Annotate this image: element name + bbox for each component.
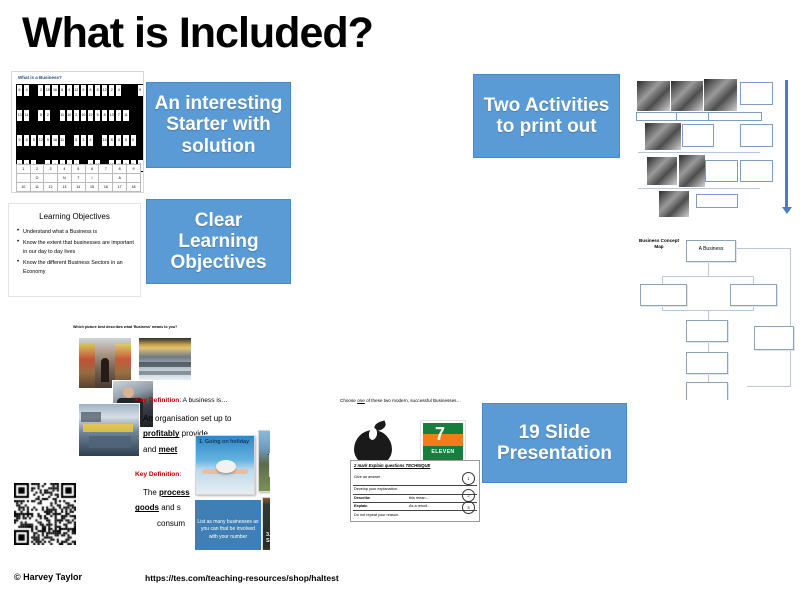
technique-heading: 2 mark Explain questions TECHNIQUE [354, 463, 430, 468]
key-definition-2-body-1b: process [159, 488, 190, 497]
concept-empty-box[interactable] [686, 352, 728, 374]
crossword-row [16, 97, 141, 110]
card-holiday[interactable]: 1. Going on holiday [195, 435, 255, 495]
crossword-cell [66, 122, 73, 135]
crossword-key-letter: I [85, 174, 99, 183]
crossword-key-number: 17 [113, 183, 127, 192]
crossword-cell: 11 [59, 134, 66, 147]
crossword-cell [66, 147, 73, 160]
crossword-key-letter [127, 174, 141, 183]
crossword-cell [94, 134, 101, 147]
crossword-cell: 12 [101, 84, 108, 97]
crossword-cell: 8 [59, 84, 66, 97]
crossword-key-number: 10 [17, 183, 31, 192]
crossword-cell [101, 147, 108, 160]
crossword-key-number: 5 [71, 165, 85, 174]
technique-row-2: Develop your explanation. [354, 487, 398, 491]
crossword-key-letter: P [30, 192, 43, 194]
crossword-key-letter [57, 192, 71, 194]
crossword-cell [66, 134, 73, 147]
technique-row-3-left: Describe [354, 496, 370, 500]
crossword-cell [137, 122, 144, 135]
crossword-cell [87, 97, 94, 110]
crossword-cell: 14 [101, 134, 108, 147]
crossword-cell [37, 97, 44, 110]
crossword-cell: 13 [108, 109, 115, 122]
crossword-cell: 13 [16, 109, 23, 122]
footer-url: https://tes.com/teaching-resources/shop/… [145, 573, 339, 583]
crossword-cell [108, 122, 115, 135]
crossword-cell [115, 122, 122, 135]
crossword-key-number: 4 [57, 165, 71, 174]
crossword-cell [16, 122, 23, 135]
crossword-cell: 12 [73, 84, 80, 97]
key-definition-1-lead: : A business is… [179, 397, 227, 404]
crossword-key-number: 3 [44, 165, 58, 174]
concept-empty-box[interactable] [640, 284, 687, 306]
crossword-cell: 2 [73, 109, 80, 122]
crossword-cell [122, 97, 129, 110]
timeline-photo [646, 156, 678, 186]
crossword-key-letter [85, 192, 99, 194]
crossword-key-letter: T [71, 174, 85, 183]
crossword-key-letter: O [30, 174, 43, 183]
timeline-photo [636, 80, 671, 112]
timeline-divider [638, 188, 760, 189]
crossword-cell [44, 97, 51, 110]
crossword-key-number: 6 [85, 165, 99, 174]
crossword-key-number: 18 [127, 183, 141, 192]
crossword-cell [101, 97, 108, 110]
timeline-answer-box[interactable] [740, 124, 773, 147]
crossword-key-table: 123456789ONTIA101112131415161718PS [16, 164, 141, 193]
crossword-cell: 5 [73, 134, 80, 147]
crossword-cell: 2 [37, 84, 44, 97]
crossword-key-number: 16 [99, 183, 113, 192]
concept-root-label: A Business [687, 246, 735, 252]
crossword-cell: 4 [23, 84, 30, 97]
timeline-answer-box[interactable] [740, 160, 773, 182]
timeline-divider [638, 152, 760, 153]
timeline-answer-box[interactable] [696, 194, 738, 208]
pictures-question: Which picture best describes what 'Busin… [73, 325, 177, 329]
crossword-cell [59, 97, 66, 110]
crossword-cell: 4 [115, 134, 122, 147]
crossword-cell [23, 122, 30, 135]
crossword-cell: 9 [130, 134, 137, 147]
slide-canvas: What is Included? What is a Business? 64… [0, 0, 800, 600]
crossword-cell [16, 97, 23, 110]
crossword-key-letter [99, 174, 113, 183]
timeline-activity-thumbnail[interactable] [630, 76, 798, 218]
crossword-key-number: 15 [85, 183, 99, 192]
starter-crossword-thumbnail[interactable]: What is a Business? 64210168412985122491… [11, 71, 144, 193]
list-businesses-text: List as many businesses as you can that … [197, 519, 259, 541]
pictures-definition-thumbnail[interactable]: Which picture best describes what 'Busin… [70, 325, 270, 550]
crossword-cell: 3 [80, 134, 87, 147]
key-definition-2-body-2a: goods [135, 503, 159, 512]
crossword-cell: 9 [137, 84, 144, 97]
key-definition-1-body-2a: profitably [143, 429, 179, 438]
crossword-cell [130, 122, 137, 135]
crossword-cell [30, 84, 37, 97]
crossword-cell [80, 97, 87, 110]
timeline-answer-box[interactable] [740, 82, 773, 105]
concept-empty-box[interactable] [754, 326, 794, 350]
card-house[interactable]: 2. Buying a house [258, 430, 270, 492]
crossword-cell [73, 122, 80, 135]
crossword-cell [108, 147, 115, 160]
crossword-cell [101, 122, 108, 135]
technique-marker-1: 1 [462, 472, 475, 485]
callout-objectives[interactable]: Clear Learning Objectives [146, 199, 291, 284]
crossword-key-number: 13 [57, 183, 71, 192]
page-title: What is Included? [22, 12, 373, 55]
crossword-cell [137, 134, 144, 147]
crossword-row: 6421016841298512249 [16, 84, 141, 97]
crossword-cell: 6 [16, 84, 23, 97]
brands-technique-thumbnail[interactable]: Choose one of these two modern, successf… [340, 398, 488, 523]
crossword-cell [108, 97, 115, 110]
crossword-cell: 8 [108, 134, 115, 147]
crossword-cell [51, 109, 58, 122]
crossword-cell [59, 147, 66, 160]
crossword-cell [44, 122, 51, 135]
key-definition-2-label: Key Definition [135, 471, 179, 478]
crossword-cell [80, 147, 87, 160]
timeline-arrow-icon [785, 80, 788, 208]
crossword-cell: 12 [87, 109, 94, 122]
crossword-key-letter [113, 192, 127, 194]
technique-row-1: Give an answer [354, 475, 380, 479]
card-school-caption: 3. Returning to School [266, 532, 270, 545]
crossword-cell [51, 122, 58, 135]
crossword-cell [23, 147, 30, 160]
crossword-key-letter [127, 192, 141, 194]
crossword-key-number: 9 [127, 165, 141, 174]
crossword-cell [30, 97, 37, 110]
crossword-cell: 8 [101, 109, 108, 122]
key-definition-1-body-3a: and [143, 445, 159, 454]
crossword-key-letter: A [113, 174, 127, 183]
crossword-cell: 18 [51, 134, 58, 147]
timeline-answer-box[interactable] [682, 124, 714, 147]
card-holiday-caption: 1. Going on holiday [199, 439, 249, 445]
crossword-key-letter [71, 192, 85, 194]
crossword-cell: 8 [87, 84, 94, 97]
crossword-row [16, 122, 141, 135]
concept-map-thumbnail[interactable]: Business Concept Map A Business [632, 230, 800, 400]
timeline-photo [644, 122, 682, 151]
crossword-cell [94, 122, 101, 135]
crossword-cell: 10 [44, 84, 51, 97]
crossword-cell: 4 [66, 84, 73, 97]
crossword-cell [130, 84, 137, 97]
callout-starter[interactable]: An interesting Starter with solution [146, 82, 291, 168]
crossword-cell [30, 122, 37, 135]
crossword-cell [130, 109, 137, 122]
explain-technique-table: 2 mark Explain questions TECHNIQUE Give … [350, 460, 480, 522]
crossword-cell [73, 147, 80, 160]
concept-map-title: Business Concept Map [636, 238, 682, 250]
crossword-key-number: 8 [113, 165, 127, 174]
crossword-key-row: 123456789 [17, 165, 141, 174]
brands-question: Choose one of these two modern, successf… [340, 398, 461, 403]
crossword-key-number: 11 [30, 183, 43, 192]
crossword-cell: 5 [30, 134, 37, 147]
crossword-key-number: 7 [99, 165, 113, 174]
objective-item: Know the extent that businesses are impo… [23, 239, 134, 256]
key-definition-2-lead: : [179, 471, 181, 478]
qr-code-canvas [14, 483, 76, 545]
key-definition-2-body-2b: and s [159, 503, 181, 512]
crossword-cell [37, 122, 44, 135]
crossword-key-letter [44, 192, 58, 194]
technique-marker-3: 3 [462, 501, 475, 514]
crossword-cell: 11 [122, 109, 129, 122]
crossword-cell: 7 [115, 109, 122, 122]
crossword-cell [122, 122, 129, 135]
crossword-cell: 5 [37, 109, 44, 122]
crossword-cell: 16 [51, 84, 58, 97]
crossword-cell: 9 [80, 84, 87, 97]
crossword-cell: 9 [16, 134, 23, 147]
crossword-key-number: 2 [30, 165, 43, 174]
crossword-cell [44, 147, 51, 160]
footer-copyright: © Harvey Taylor [14, 572, 82, 582]
crossword-cell [51, 147, 58, 160]
timeline-answer-box[interactable] [676, 112, 710, 121]
crossword-key-number: 12 [44, 183, 58, 192]
crossword-cell [87, 147, 94, 160]
crossword-cell: 10 [80, 109, 87, 122]
crossword-cell [66, 97, 73, 110]
crossword-cell [23, 97, 30, 110]
key-definition-2-body-1a: The [143, 488, 159, 497]
objective-item: Know the different Business Sectors in a… [23, 259, 134, 276]
objective-item: Understand what a Business is [23, 228, 134, 236]
timeline-photo [670, 80, 704, 112]
technique-row-5: Do not repeat your reason. [354, 513, 399, 517]
crossword-key-letter: N [57, 174, 71, 183]
crossword-cell [94, 97, 101, 110]
crossword-cell: 5 [94, 109, 101, 122]
crossword-title: What is a Business? [18, 75, 62, 80]
crossword-cell: 10 [66, 109, 73, 122]
technique-row-3-right: this mean… [409, 496, 429, 500]
crossword-cell: 11 [23, 109, 30, 122]
callout-activities[interactable]: Two Activities to print out [473, 74, 620, 158]
crossword-cell [115, 147, 122, 160]
crossword-grid: 6421016841298512249131152111021012581371… [16, 84, 141, 159]
crossword-key-letter [44, 174, 58, 183]
crossword-cell [80, 122, 87, 135]
modern-office-photo [138, 337, 192, 381]
concept-empty-box[interactable] [686, 320, 728, 342]
crossword-key-row: PS [17, 192, 141, 194]
crossword-cell: 4 [87, 134, 94, 147]
crossword-row: 9851291811534148459 [16, 134, 141, 147]
technique-row-4-right: As a result… [409, 504, 431, 508]
crossword-cell [30, 109, 37, 122]
learning-objectives-thumbnail[interactable]: Learning Objectives Understand what a Bu… [8, 203, 141, 297]
crossword-key-letter: S [99, 192, 113, 194]
crossword-cell: 9 [44, 134, 51, 147]
key-definition-1-label: Key Definition [135, 397, 179, 404]
crossword-cell [51, 97, 58, 110]
qr-code[interactable] [14, 483, 76, 545]
crossword-cell [30, 147, 37, 160]
crossword-key-row: ONTIA [17, 174, 141, 183]
concept-empty-box[interactable] [686, 382, 728, 400]
crossword-key-number: 14 [71, 183, 85, 192]
crossword-cell [130, 147, 137, 160]
crossword-row: 1311521110210125813711 [16, 109, 141, 122]
crossword-cell: 2 [108, 84, 115, 97]
seven-eleven-number: 7 [435, 425, 445, 443]
technique-row-4-left: Explain [354, 504, 368, 508]
crossword-cell [122, 84, 129, 97]
concept-empty-box[interactable] [730, 284, 777, 306]
crossword-cell: 12 [37, 134, 44, 147]
crossword-cell [137, 147, 144, 160]
crossword-cell [37, 147, 44, 160]
crossword-key-letter [17, 192, 31, 194]
timeline-answer-box[interactable] [636, 112, 678, 121]
crossword-cell: 8 [23, 134, 30, 147]
concept-root-box[interactable]: A Business [686, 240, 736, 262]
crossword-key-letter [17, 174, 31, 183]
timeline-answer-box[interactable] [705, 160, 738, 182]
key-definition-1-body-1: An organisation set up to [135, 414, 270, 425]
timeline-photo [658, 190, 690, 218]
crossword-cell [59, 122, 66, 135]
crossword-key-number: 1 [17, 165, 31, 174]
crossword-cell [137, 109, 144, 122]
production-line-photo [78, 403, 140, 457]
crossword-cell: 2 [44, 109, 51, 122]
key-definition-1-body-3b: meet [159, 445, 178, 454]
list-businesses-box: List as many businesses as you can that … [195, 500, 261, 550]
crossword-cell: 4 [115, 84, 122, 97]
crossword-key-row: 101112131415161718 [17, 183, 141, 192]
crossword-cell [16, 147, 23, 160]
objectives-list: Understand what a Business is Know the e… [9, 228, 140, 276]
card-school[interactable]: Back To School 3. Returning to School [262, 497, 270, 550]
timeline-photo [678, 154, 706, 188]
crossword-cell [137, 97, 144, 110]
callout-slides[interactable]: 19 Slide Presentation [482, 403, 627, 483]
crossword-cell [130, 97, 137, 110]
crossword-cell: 5 [94, 84, 101, 97]
crossword-cell [73, 97, 80, 110]
crossword-row [16, 147, 141, 160]
crossword-cell [122, 147, 129, 160]
timeline-answer-box[interactable] [708, 112, 762, 121]
timeline-photo [703, 78, 738, 112]
crossword-cell: 11 [59, 109, 66, 122]
crossword-cell [87, 122, 94, 135]
seven-eleven-word: ELEVEN [425, 449, 461, 455]
objectives-title: Learning Objectives [9, 212, 140, 221]
crossword-cell: 5 [122, 134, 129, 147]
crossword-cell [115, 97, 122, 110]
crossword-cell [94, 147, 101, 160]
